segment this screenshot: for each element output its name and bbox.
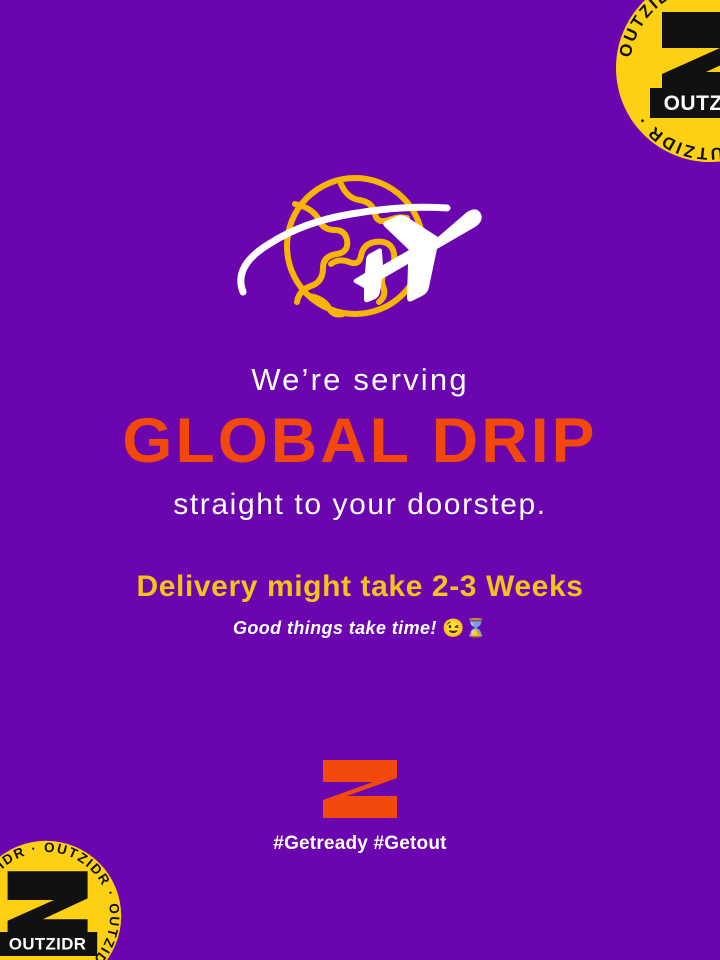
- copy-block: We’re serving GLOBAL DRIP straight to yo…: [0, 362, 720, 639]
- z-logo-shape: [323, 760, 397, 818]
- tagline-text: Good things take time!: [233, 618, 437, 638]
- headline-text: GLOBAL DRIP: [0, 410, 720, 473]
- tagline-row: Good things take time! 😉⌛: [0, 618, 720, 640]
- brand-badge-top-right: OUTZIDR · OUTZIDR · OUTZIDR · OUTZIDR · …: [610, 0, 720, 168]
- promo-poster: OUTZIDR · OUTZIDR · OUTZIDR · OUTZIDR · …: [0, 0, 720, 960]
- badge-wordmark: OUTZIDR: [9, 935, 86, 954]
- delivery-notice-text: Delivery might take 2-3 Weeks: [0, 569, 720, 605]
- hashtags-text: #Getready #Getout: [273, 833, 446, 855]
- subhead-text: straight to your doorstep.: [0, 487, 720, 523]
- footer-block: #Getready #Getout: [0, 760, 720, 855]
- brand-z-logo: [321, 760, 399, 818]
- globe-icon: [287, 178, 423, 314]
- tagline-emoji-icons: 😉⌛: [442, 618, 487, 638]
- eyebrow-text: We’re serving: [0, 362, 720, 399]
- hero-illustration: [0, 168, 720, 343]
- badge-wordmark: OUTZIDR: [664, 92, 720, 115]
